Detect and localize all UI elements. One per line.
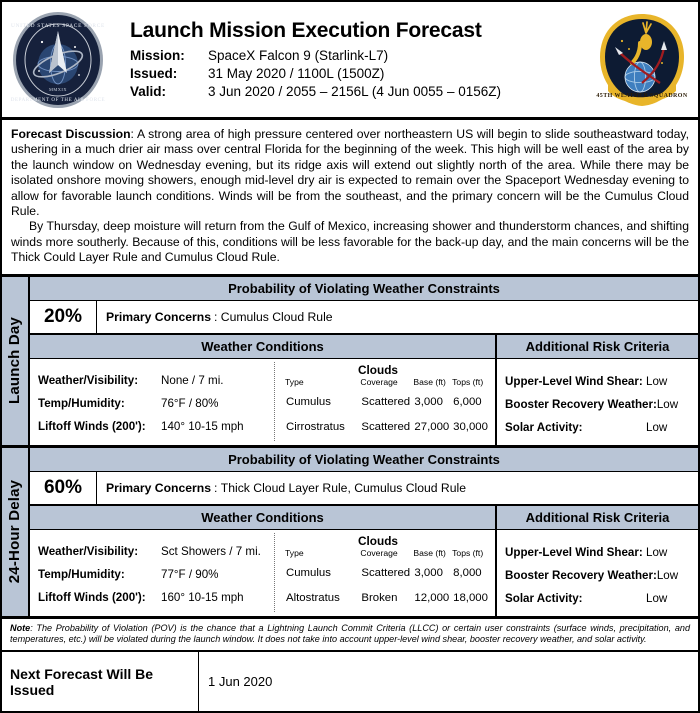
launch-day-obs-visibility-value: None / 7 mi. [161,369,224,392]
launch-day-weather-conditions-title: Weather Conditions [30,335,495,359]
launch-day-block: Launch Day Probability of Violating Weat… [2,277,698,448]
discussion-label: Forecast Discussion [11,127,131,141]
us-space-force-seal-icon: UNITED STATES SPACE FORCE DEPARTMENT OF … [8,8,108,112]
launch-day-obs-temp: Temp/Humidity: 76°F / 80% [38,392,274,415]
delay-day-obs-temp-value: 77°F / 90% [161,563,218,586]
delay-day-body: Probability of Violating Weather Constra… [30,448,698,616]
launch-day-primary-concerns-value: Cumulus Cloud Rule [221,310,333,324]
delay-day-pov-row: 60% Primary Concerns: Thick Cloud Layer … [30,472,698,506]
delay-day-risk-booster-label: Booster Recovery Weather: [505,564,657,587]
delay-day-pov-band: Probability of Violating Weather Constra… [30,448,698,472]
delay-day-cloud-0-type: Cumulus [285,561,360,586]
next-forecast-value: 1 Jun 2020 [199,652,698,711]
clouds-col-type: Type [285,377,360,390]
delay-day-risk-body: Upper-Level Wind Shear: Low Booster Reco… [497,530,698,613]
launch-day-cloud-1-base: 27,000 [413,415,452,440]
document-header: UNITED STATES SPACE FORCE DEPARTMENT OF … [2,2,698,120]
delay-day-risk-booster: Booster Recovery Weather: Low [505,564,690,587]
delay-day-obs-visibility-label: Weather/Visibility: [38,540,161,563]
table-row: Altostratus Broken 12,000 18,000 [285,586,489,611]
clouds-col-coverage: Coverage [360,377,413,390]
launch-day-conditions-wrap: Weather Conditions Weather/Visibility: N… [30,335,698,445]
delay-day-clouds-table: Type Coverage Base (ft) Tops (ft) Cumulu… [285,548,489,611]
delay-day-clouds-title: Clouds [285,533,489,548]
pov-note-label: Note [10,623,30,633]
delay-day-conditions-wrap: Weather Conditions Weather/Visibility: S… [30,506,698,616]
table-row: Cumulus Scattered 3,000 8,000 [285,561,489,586]
delay-day-block: 24-Hour Delay Probability of Violating W… [2,448,698,616]
mission-label: Mission: [130,47,208,65]
delay-day-risk-solar: Solar Activity: Low [505,587,690,610]
delay-day-risk-solar-value: Low [646,587,690,610]
discussion-paragraph-2: By Thursday, deep moisture will return f… [11,219,689,265]
launch-day-side-label-text: Launch Day [7,317,24,404]
delay-day-weather-conditions-title: Weather Conditions [30,506,495,530]
launch-day-body: Probability of Violating Weather Constra… [30,277,698,445]
table-header-row: Type Coverage Base (ft) Tops (ft) [285,377,489,390]
delay-day-risk-booster-value: Low [657,564,700,587]
launch-day-pov-row: 20% Primary Concerns: Cumulus Cloud Rule [30,301,698,335]
delay-day-obs-visibility-value: Sct Showers / 7 mi. [161,540,261,563]
delay-day-cloud-1-type: Altostratus [285,586,360,611]
launch-day-pov-value: 20% [30,301,97,333]
clouds-col-tops: Tops (ft) [452,548,489,561]
delay-day-obs-temp: Temp/Humidity: 77°F / 90% [38,563,274,586]
launch-day-obs-winds-value: 140° 10-15 mph [161,415,244,438]
delay-day-additional-risk: Additional Risk Criteria Upper-Level Win… [497,506,698,616]
launch-day-additional-risk: Additional Risk Criteria Upper-Level Win… [497,335,698,445]
clouds-col-base: Base (ft) [413,377,452,390]
clouds-col-base: Base (ft) [413,548,452,561]
meta-row-issued: Issued: 31 May 2020 / 1100L (1500Z) [130,65,592,83]
launch-day-clouds: Clouds Type Coverage Base (ft) Tops (ft) [275,362,495,441]
clouds-col-coverage: Coverage [360,548,413,561]
launch-day-clouds-title: Clouds [285,362,489,377]
delay-day-side-label: 24-Hour Delay [2,448,30,616]
launch-day-obs-visibility: Weather/Visibility: None / 7 mi. [38,369,274,392]
delay-day-primary-concerns-value: Thick Cloud Layer Rule, Cumulus Cloud Ru… [221,481,466,495]
header-text-block: Launch Mission Execution Forecast Missio… [108,19,592,101]
delay-day-weather-conditions: Weather Conditions Weather/Visibility: S… [30,506,497,616]
delay-day-side-label-text: 24-Hour Delay [7,480,24,583]
launch-day-risk-solar: Solar Activity: Low [505,416,690,439]
delay-day-obs-visibility: Weather/Visibility: Sct Showers / 7 mi. [38,540,274,563]
svg-text:UNITED STATES SPACE FORCE: UNITED STATES SPACE FORCE [11,23,105,29]
issued-label: Issued: [130,65,208,83]
discussion-paragraph-1: Forecast Discussion: A strong area of hi… [11,127,689,219]
next-forecast-label: Next Forecast Will Be Issued [2,652,199,711]
delay-day-risk-wind-shear-label: Upper-Level Wind Shear: [505,541,646,564]
launch-day-cloud-0-tops: 6,000 [452,390,489,415]
delay-day-risk-wind-shear-value: Low [646,541,690,564]
meta-row-mission: Mission: SpaceX Falcon 9 (Starlink-L7) [130,47,592,65]
launch-day-obs-winds: Liftoff Winds (200'): 140° 10-15 mph [38,415,274,438]
launch-day-primary-concerns-label: Primary Concerns [106,310,211,324]
delay-day-cloud-0-tops: 8,000 [452,561,489,586]
launch-day-risk-booster: Booster Recovery Weather: Low [505,393,690,416]
delay-day-cloud-0-coverage: Scattered [360,561,413,586]
delay-day-primary-concerns-label: Primary Concerns [106,481,211,495]
launch-day-risk-wind-shear-label: Upper-Level Wind Shear: [505,370,646,393]
launch-day-weather-conditions: Weather Conditions Weather/Visibility: N… [30,335,497,445]
delay-day-cloud-1-coverage: Broken [360,586,413,611]
valid-value: 3 Jun 2020 / 2055 – 2156L (4 Jun 0055 – … [208,83,501,101]
launch-day-cloud-1-type: Cirrostratus [285,415,360,440]
mission-value: SpaceX Falcon 9 (Starlink-L7) [208,47,388,65]
delay-day-conditions-body: Weather/Visibility: Sct Showers / 7 mi. … [30,530,495,616]
table-row: Cirrostratus Scattered 27,000 30,000 [285,415,489,440]
launch-day-side-label: Launch Day [2,277,30,445]
delay-day-observations: Weather/Visibility: Sct Showers / 7 mi. … [30,533,275,612]
clouds-col-tops: Tops (ft) [452,377,489,390]
launch-day-obs-visibility-label: Weather/Visibility: [38,369,161,392]
launch-day-risk-solar-value: Low [646,416,690,439]
svg-text:45TH WEATHER SQUADRON: 45TH WEATHER SQUADRON [596,93,687,99]
meta-row-valid: Valid: 3 Jun 2020 / 2055 – 2156L (4 Jun … [130,83,592,101]
launch-day-conditions-body: Weather/Visibility: None / 7 mi. Temp/Hu… [30,359,495,445]
launch-day-obs-winds-label: Liftoff Winds (200'): [38,415,161,438]
launch-day-cloud-1-coverage: Scattered [360,415,413,440]
pov-note-text: : The Probability of Violation (POV) is … [10,623,690,645]
valid-label: Valid: [130,83,208,101]
delay-day-risk-wind-shear: Upper-Level Wind Shear: Low [505,541,690,564]
table-row: Cumulus Scattered 3,000 6,000 [285,390,489,415]
launch-day-obs-temp-label: Temp/Humidity: [38,392,161,415]
table-header-row: Type Coverage Base (ft) Tops (ft) [285,548,489,561]
page-title: Launch Mission Execution Forecast [130,19,592,43]
launch-day-cloud-0-base: 3,000 [413,390,452,415]
launch-day-observations: Weather/Visibility: None / 7 mi. Temp/Hu… [30,362,275,441]
delay-day-cloud-1-base: 12,000 [413,586,452,611]
delay-day-cloud-1-tops: 18,000 [452,586,489,611]
issued-value: 31 May 2020 / 1100L (1500Z) [208,65,384,83]
launch-day-clouds-table: Type Coverage Base (ft) Tops (ft) Cumulu… [285,377,489,440]
delay-day-cloud-0-base: 3,000 [413,561,452,586]
delay-day-pov-value: 60% [30,472,97,504]
svg-text:DEPARTMENT OF THE AIR FORCE: DEPARTMENT OF THE AIR FORCE [11,98,105,103]
delay-day-clouds: Clouds Type Coverage Base (ft) Tops (ft) [275,533,495,612]
forecast-document: UNITED STATES SPACE FORCE DEPARTMENT OF … [0,0,700,713]
launch-day-risk-body: Upper-Level Wind Shear: Low Booster Reco… [497,359,698,442]
launch-day-cloud-1-tops: 30,000 [452,415,489,440]
launch-day-risk-booster-value: Low [657,393,700,416]
launch-day-pov-band: Probability of Violating Weather Constra… [30,277,698,301]
launch-day-risk-wind-shear: Upper-Level Wind Shear: Low [505,370,690,393]
launch-day-risk-booster-label: Booster Recovery Weather: [505,393,657,416]
launch-day-risk-solar-label: Solar Activity: [505,416,646,439]
launch-day-risk-wind-shear-value: Low [646,370,690,393]
clouds-col-type: Type [285,548,360,561]
45th-weather-squadron-patch-icon: 45TH WEATHER SQUADRON [592,8,692,112]
delay-day-obs-winds: Liftoff Winds (200'): 160° 10-15 mph [38,586,274,609]
launch-day-cloud-0-type: Cumulus [285,390,360,415]
next-forecast-row: Next Forecast Will Be Issued 1 Jun 2020 [2,652,698,711]
delay-day-obs-winds-value: 160° 10-15 mph [161,586,244,609]
pov-note: Note: The Probability of Violation (POV)… [2,616,698,653]
delay-day-primary-concerns: Primary Concerns: Thick Cloud Layer Rule… [97,472,698,504]
launch-day-additional-risk-title: Additional Risk Criteria [497,335,698,359]
launch-day-primary-concerns: Primary Concerns: Cumulus Cloud Rule [97,301,698,333]
forecast-discussion: Forecast Discussion: A strong area of hi… [2,120,698,277]
svg-text:MMXIX: MMXIX [49,87,67,92]
delay-day-additional-risk-title: Additional Risk Criteria [497,506,698,530]
delay-day-obs-winds-label: Liftoff Winds (200'): [38,586,161,609]
delay-day-obs-temp-label: Temp/Humidity: [38,563,161,586]
launch-day-obs-temp-value: 76°F / 80% [161,392,218,415]
launch-day-cloud-0-coverage: Scattered [360,390,413,415]
delay-day-risk-solar-label: Solar Activity: [505,587,646,610]
